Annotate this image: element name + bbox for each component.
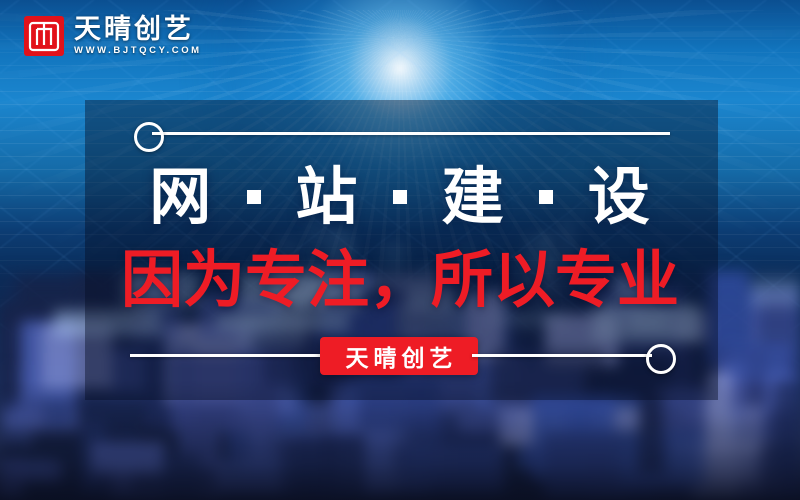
brand-website: WWW.BJTQCY.COM [74, 46, 202, 56]
headline-separator-dot-1 [247, 190, 261, 204]
brand-badge-label: 天晴创艺 [341, 339, 458, 373]
headline-char-3: 建 [442, 160, 505, 233]
brand-badge[interactable]: 天晴创艺 [320, 337, 478, 375]
headline-char-2: 站 [295, 160, 358, 233]
headline-separator-dot-3 [539, 190, 553, 204]
headline-char-1: 网 [149, 160, 212, 233]
banner-canvas: 天晴创艺 WWW.BJTQCY.COM 网 站 建 设 因为专注，所以专业 天晴… [0, 0, 800, 500]
headline: 网 站 建 设 [0, 160, 800, 234]
top-divider-rule [152, 132, 670, 135]
top-left-ring-marker [134, 122, 164, 152]
headline-separator-dot-2 [393, 190, 407, 204]
bottom-right-ring-marker [646, 344, 676, 374]
subheadline: 因为专注，所以专业 [0, 243, 800, 317]
headline-char-4: 设 [588, 160, 651, 233]
bottom-left-divider-rule [130, 354, 326, 357]
brand-logo-text: 天晴创艺 WWW.BJTQCY.COM [74, 16, 202, 56]
bottom-right-divider-rule [472, 354, 652, 357]
tianqing-monogram-icon [24, 16, 64, 56]
brand-name: 天晴创艺 [74, 16, 202, 44]
brand-logo[interactable]: 天晴创艺 WWW.BJTQCY.COM [24, 16, 202, 56]
